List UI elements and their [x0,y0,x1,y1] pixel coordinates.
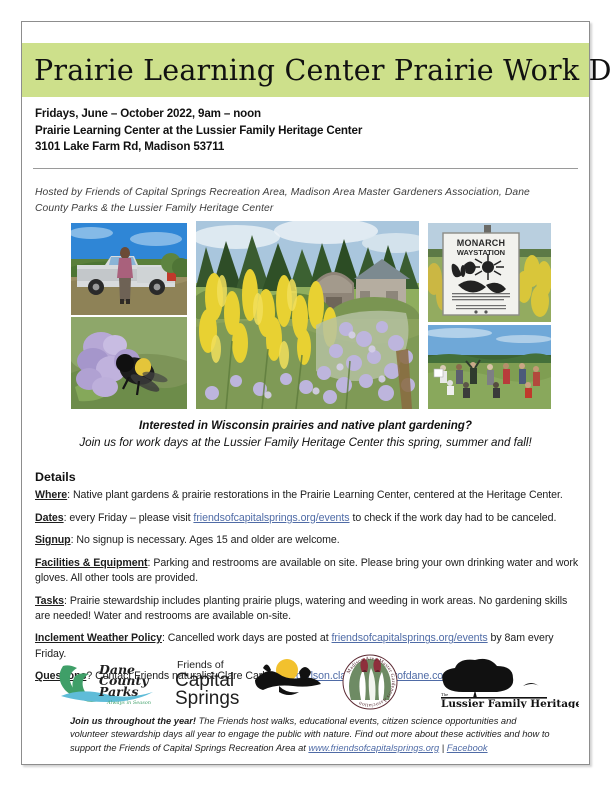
detail-dates-text: to check if the work day had to be cance… [350,512,557,524]
detail-dates: Dates: every Friday – please visit frien… [35,511,581,526]
logo-friends-of-capital-springs: Friends of Capital Springs [175,654,323,708]
detail-weather-link[interactable]: friendsofcapitalsprings.org/events [332,632,488,644]
detail-signup-text: No signup is necessary. Ages 15 and olde… [76,534,339,546]
photo-prairie-garden-barn [196,221,419,409]
detail-facilities: Facilities & Equipment: Parking and rest… [35,556,581,586]
detail-tasks: Tasks: Prairie stewardship includes plan… [35,594,581,624]
photo-volunteer-truck [71,223,187,315]
hosted-by-text: Hosted by Friends of Capital Springs Rec… [35,185,565,216]
detail-signup-label: Signup [35,534,71,546]
title-banner: Prairie Learning Center Prairie Work Day… [22,43,589,97]
detail-tasks-label: Tasks [35,595,64,607]
footer-lead: Join us throughout the year! [70,716,196,726]
photo-bumblebee-flower [71,317,187,409]
detail-facilities-label: Facilities & Equipment [35,557,148,569]
header-divider [33,168,578,169]
detail-signup: Signup: No signup is necessary. Ages 15 … [35,533,581,548]
tagline-invite: Join us for work days at the Lussier Fam… [22,434,589,451]
detail-tasks-text: Prairie stewardship includes planting pr… [35,595,567,622]
footer-text: Join us throughout the year! The Friends… [70,715,552,755]
event-dates-line: Fridays, June – October 2022, 9am – noon [35,106,575,123]
svg-text:MONARCH: MONARCH [457,238,505,248]
photo-group-in-prairie [428,325,551,409]
flyer-page: Prairie Learning Center Prairie Work Day… [21,21,590,765]
detail-dates-link[interactable]: friendsofcapitalsprings.org/events [193,512,349,524]
event-address-line: 3101 Lake Farm Rd, Madison 53711 [35,139,575,156]
detail-where-text: Native plant gardens & prairie restorati… [73,489,563,501]
svg-text:Lussier Family Heritage Center: Lussier Family Heritage Center [441,698,579,708]
tagline-block: Interested in Wisconsin prairies and nat… [22,417,589,451]
partner-logo-row: Dane County Parks Always in Season Frien… [35,654,581,710]
svg-text:Always in Season: Always in Season [106,700,151,706]
footer-facebook-link[interactable]: Facebook [447,743,488,753]
footer-separator: | [439,743,447,753]
svg-text:Springs: Springs [175,688,239,708]
event-venue-line: Prairie Learning Center at the Lussier F… [35,123,575,140]
photo-monarch-waystation-sign: MONARCH x WAYSTATION [428,223,551,322]
detail-weather-text: Cancelled work days are posted at [168,632,332,644]
event-info-block: Fridays, June – October 2022, 9am – noon… [35,106,575,156]
detail-where-label: Where [35,489,67,501]
logo-lussier-family-heritage-center: The Lussier Family Heritage Center [427,658,579,708]
svg-text:The: The [441,692,448,697]
svg-text:Parks: Parks [98,684,138,699]
svg-text:WAYSTATION: WAYSTATION [457,248,505,257]
logo-dane-county-parks: Dane County Parks Always in Season [55,656,167,706]
detail-weather-label: Inclement Weather Policy [35,632,162,644]
footer-website-link[interactable]: www.friendsofcapitalsprings.org [308,743,439,753]
detail-dates-text: every Friday – please visit [69,512,193,524]
logo-madison-area-master-gardeners: Madison Area Master Gardeners Associatio… [337,654,403,710]
details-heading: Details [35,470,76,484]
detail-dates-label: Dates [35,512,64,524]
tagline-question: Interested in Wisconsin prairies and nat… [22,417,589,434]
detail-where: Where: Native plant gardens & prairie re… [35,488,581,503]
page-title: Prairie Learning Center Prairie Work Day… [22,54,612,87]
